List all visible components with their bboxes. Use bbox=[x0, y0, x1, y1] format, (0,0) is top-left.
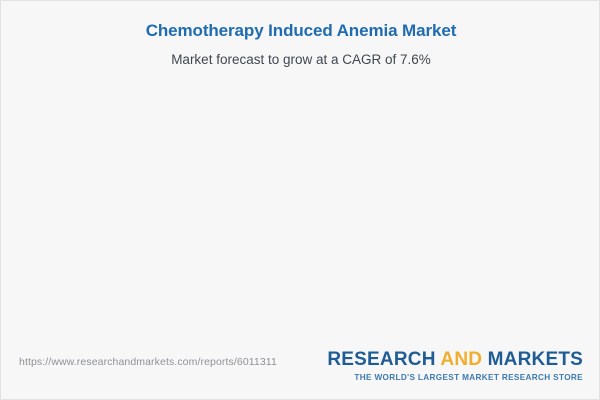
report-url[interactable]: https://www.researchandmarkets.com/repor… bbox=[19, 356, 277, 368]
footer: https://www.researchandmarkets.com/repor… bbox=[1, 344, 600, 399]
logo-word-markets: MARKETS bbox=[488, 349, 583, 370]
logo-tagline: THE WORLD'S LARGEST MARKET RESEARCH STOR… bbox=[327, 373, 583, 382]
logo-word-and: AND bbox=[440, 349, 482, 370]
chart-card: Chemotherapy Induced Anemia Market Marke… bbox=[0, 0, 600, 400]
plot-area: USD 2.9 Billion 2025 USD 4.84 Billion bbox=[1, 1, 600, 346]
logo-word-research: RESEARCH bbox=[327, 349, 435, 370]
logo-wordmark: RESEARCH AND MARKETS bbox=[327, 350, 583, 370]
research-and-markets-logo[interactable]: RESEARCH AND MARKETS THE WORLD'S LARGEST… bbox=[327, 350, 583, 382]
